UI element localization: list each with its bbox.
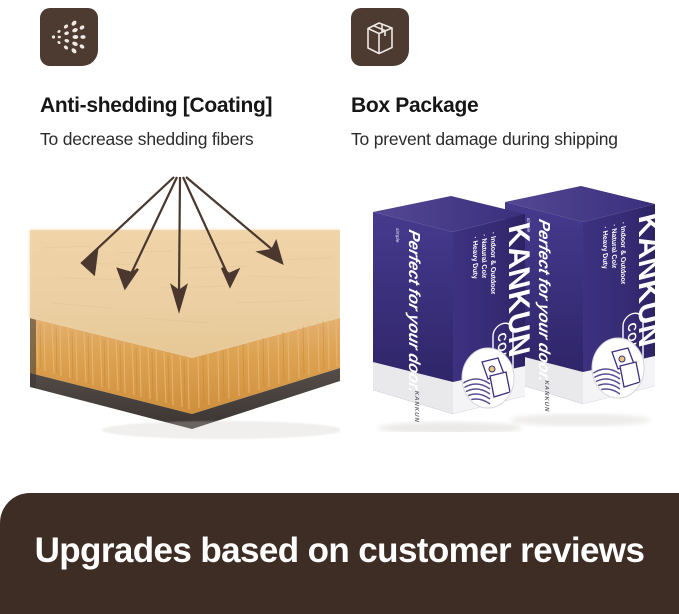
page-root: Anti-shedding [Coating] To decrease shed… (0, 0, 679, 614)
feature-title: Anti-shedding [Coating] (40, 94, 339, 118)
svg-text:Perfect for your door.: Perfect for your door. (405, 228, 423, 395)
box-package-icon (351, 8, 409, 66)
svg-text:· Natural Coir: · Natural Coir (480, 233, 488, 279)
svg-text:· Indoor & Outdoor: · Indoor & Outdoor (619, 221, 627, 286)
svg-text:· Heavy Duty: · Heavy Duty (601, 226, 609, 270)
svg-text:KANKUN: KANKUN (543, 379, 550, 413)
feature-box-package: Box Package To prevent damage during shi… (339, 0, 678, 150)
feature-title: Box Package (351, 94, 678, 118)
illustration-band: KANKUN · Heavy Duty · Natural Coir · Ind… (0, 160, 679, 493)
svg-text:· Indoor & Outdoor: · Indoor & Outdoor (489, 231, 497, 296)
svg-text:Perfect for your door.: Perfect for your door. (535, 217, 553, 384)
feature-subtitle: To decrease shedding fibers (40, 129, 339, 150)
svg-text:KANKUN: KANKUN (413, 390, 420, 424)
banner-text: Upgrades based on customer reviews (35, 531, 645, 577)
feature-anti-shedding: Anti-shedding [Coating] To decrease shed… (0, 0, 339, 150)
coir-mat-photo (22, 168, 340, 468)
feature-row: Anti-shedding [Coating] To decrease shed… (0, 0, 679, 150)
spray-fan-icon (40, 8, 98, 66)
feature-subtitle: To prevent damage during shipping (351, 129, 678, 150)
svg-text:· Natural Coir: · Natural Coir (610, 223, 618, 269)
kankun-box-photo: KANKUN · Heavy Duty · Natural Coir · Ind… (355, 172, 665, 432)
svg-text:simple: simple (394, 227, 400, 243)
svg-text:· Heavy Duty: · Heavy Duty (471, 236, 479, 280)
upgrades-banner: Upgrades based on customer reviews (0, 493, 679, 614)
